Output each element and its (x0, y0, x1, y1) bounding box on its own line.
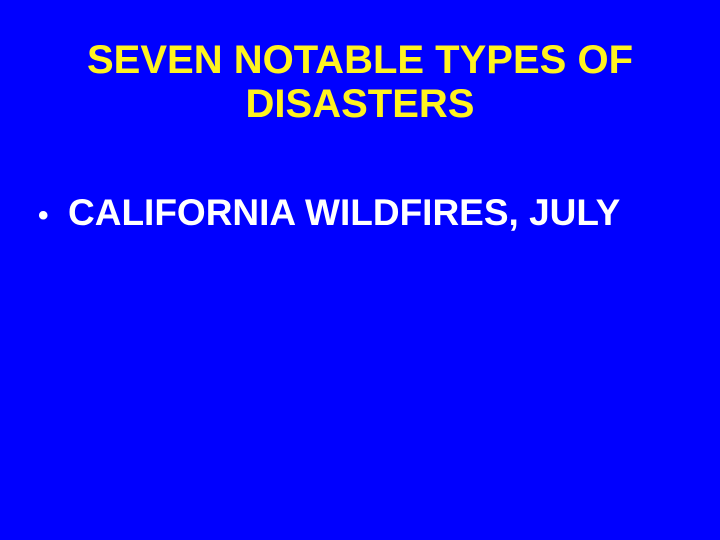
title-line-2: DISASTERS (40, 82, 680, 126)
slide-title: SEVEN NOTABLE TYPES OF DISASTERS (40, 38, 680, 126)
slide-canvas: SEVEN NOTABLE TYPES OF DISASTERS • CALIF… (0, 0, 720, 540)
bullet-point-icon: • (38, 193, 68, 238)
title-line-1: SEVEN NOTABLE TYPES OF (40, 38, 680, 82)
list-item: • CALIFORNIA WILDFIRES, JULY (38, 190, 688, 238)
slide-body: • CALIFORNIA WILDFIRES, JULY (38, 190, 688, 238)
list-item-label: CALIFORNIA WILDFIRES, JULY (68, 190, 620, 235)
